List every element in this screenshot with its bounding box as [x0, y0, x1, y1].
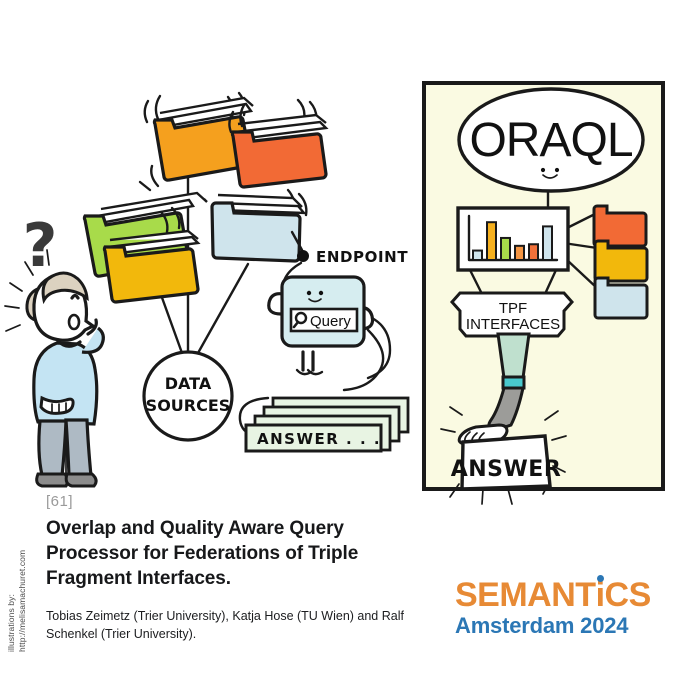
chart-bar-2 — [487, 222, 496, 260]
logo-part-2: CS — [605, 576, 651, 614]
data-sources-line-1: DATA — [165, 374, 212, 393]
chart-box — [458, 208, 568, 270]
oraql-label: ORAQL — [469, 114, 632, 167]
data-sources-line-2: SOURCES — [146, 396, 231, 415]
logo-i-dot — [597, 575, 604, 582]
tpf-line-2: INTERFACES — [466, 316, 560, 333]
illustration-svg: .ink{stroke:#1a1a1a;stroke-width:3.2;str… — [0, 0, 680, 520]
chart-bar-1 — [473, 251, 482, 260]
logo-letter-i: i — [596, 578, 605, 612]
oraql-bubble: ORAQL — [459, 89, 643, 191]
illustration-stage: .ink{stroke:#1a1a1a;stroke-width:3.2;str… — [0, 0, 680, 520]
chart-bar-6 — [543, 226, 552, 260]
logo-subtitle: Amsterdam 2024 — [455, 614, 650, 637]
answer-stack-label: ANSWER . . . — [257, 430, 381, 448]
answer-paper-label: ANSWER — [451, 457, 562, 482]
question-mark-icon: ? — [23, 211, 58, 281]
query-label: Query — [310, 313, 351, 330]
tpf-line-1: TPF — [499, 300, 527, 317]
semantics-logo: SEMANTiCS Amsterdam 2024 — [455, 578, 650, 637]
logo-part-1: SEMANT — [455, 576, 596, 614]
credit-line-1: illustrations by: — [6, 502, 17, 652]
reference-number: [61] — [46, 494, 416, 511]
question-mark-glyph: ? — [23, 211, 58, 281]
query-box: Query — [269, 277, 390, 378]
chart-bar-3 — [501, 238, 510, 260]
answer-paper: ANSWER — [451, 436, 562, 489]
authors-line: Tobias Zeimetz (Trier University), Katja… — [46, 607, 416, 643]
thinking-person: ? — [5, 211, 103, 486]
paper-card: .ink{stroke:#1a1a1a;stroke-width:3.2;str… — [0, 0, 680, 680]
credit-line-2: http://melisamachuret.com — [17, 502, 28, 652]
folder-blue — [212, 190, 306, 261]
page-title: Overlap and Quality Aware Query Processo… — [46, 516, 416, 591]
tpf-interfaces-box: TPF INTERFACES — [452, 293, 572, 336]
logo-wordmark: SEMANTiCS — [455, 578, 650, 612]
illustration-credit[interactable]: illustrations by: http://melisamachuret.… — [6, 502, 26, 652]
data-sources-node: DATA SOURCES — [144, 352, 232, 440]
chart-bar-5 — [529, 244, 538, 260]
chart-bar-4 — [515, 246, 524, 260]
answer-stack: ANSWER . . . — [240, 330, 408, 451]
endpoint-label: ENDPOINT — [316, 248, 408, 266]
paper-text-block: [61] Overlap and Quality Aware Query Pro… — [46, 494, 416, 643]
